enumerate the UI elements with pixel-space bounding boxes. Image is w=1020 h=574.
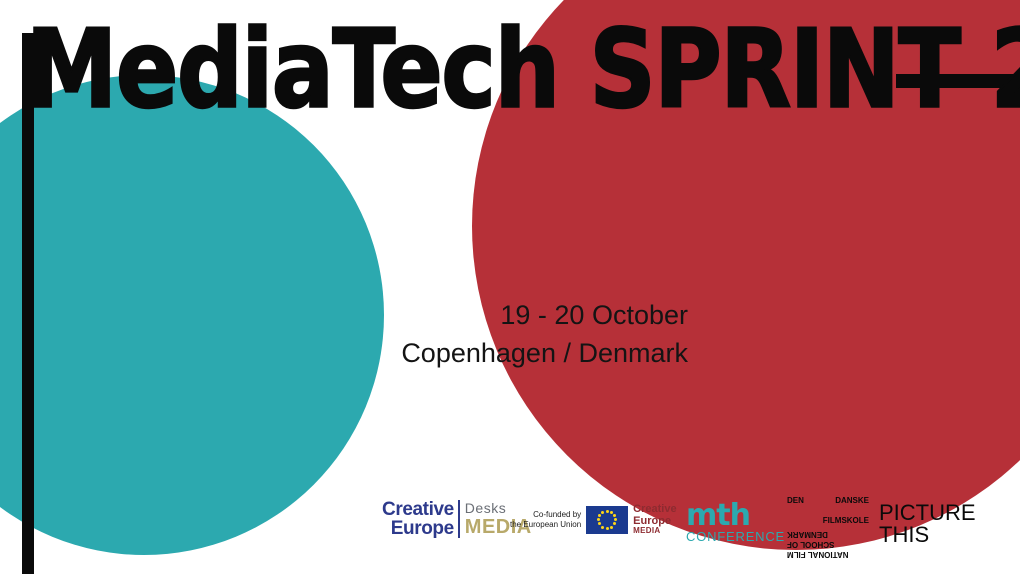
- eu-flag-star-icon: [598, 514, 601, 517]
- eu-flag-star-icon: [613, 522, 616, 525]
- eu-flag-star-icon: [606, 510, 609, 513]
- dfs-danish-text: DEN DANSKE FILMSKOLE: [787, 496, 869, 526]
- co-funded-line2: the European Union: [510, 520, 581, 530]
- sponsor-logo-strip: Creative Europe Desks MEDIA Co-funded by…: [382, 492, 982, 556]
- eu-flag-star-icon: [610, 526, 613, 529]
- creative-europe-line2: Europe: [382, 519, 454, 538]
- eu-flag-star-icon: [597, 518, 600, 521]
- dfs-top-line3: FILMSKOLE: [823, 516, 869, 525]
- creative-europe-line1: Creative: [382, 500, 454, 519]
- mth-wordmark: mth: [686, 502, 785, 530]
- mth-conference-label: CONFERENCE: [686, 530, 785, 544]
- eu-brand-line3: MEDIA: [633, 527, 676, 535]
- dfs-den: DEN: [787, 496, 804, 505]
- co-funded-line1: Co-funded by: [510, 510, 581, 520]
- eu-flag-icon: [586, 506, 628, 534]
- dfs-bottom-line3: DENMARK: [787, 529, 869, 539]
- dfs-bottom-line2: SCHOOL OF: [787, 539, 869, 549]
- eu-flag-star-icon: [610, 511, 613, 514]
- creative-europe-wordmark: Creative Europe: [382, 500, 458, 538]
- logo-divider: [458, 500, 460, 538]
- dfs-bottom-line1: NATIONAL FILM: [787, 549, 869, 559]
- co-funded-text: Co-funded by the European Union: [510, 510, 586, 530]
- dfs-danske: DANSKE: [835, 496, 869, 505]
- eu-flag-star-icon: [606, 527, 609, 530]
- co-funded-eu-logo: Co-funded by the European Union Creative…: [510, 504, 677, 535]
- eu-creative-europe-wordmark: Creative Europe MEDIA: [628, 504, 676, 535]
- eu-flag-star-icon: [598, 522, 601, 525]
- eu-flag-star-icon: [614, 518, 617, 521]
- eu-flag-star-icon: [613, 514, 616, 517]
- mth-conference-logo: mth CONFERENCE: [686, 502, 785, 544]
- page-title: MediaTech SPRINT 2025: [26, 16, 1001, 124]
- event-details: 19 - 20 October Copenhagen / Denmark: [0, 296, 688, 372]
- dfs-english-text: NATIONAL FILM SCHOOL OF DENMARK: [787, 529, 869, 559]
- eu-brand-line1: Creative: [633, 504, 676, 516]
- poster-canvas: MediaTech SPRINT 2025 19 - 20 October Co…: [0, 0, 1020, 574]
- event-location: Copenhagen / Denmark: [0, 334, 688, 372]
- picture-this-line1: PICTURE: [879, 502, 976, 524]
- eu-flag-star-icon: [601, 511, 604, 514]
- picture-this-logo: PICTURE THIS: [879, 502, 976, 546]
- event-dates: 19 - 20 October: [0, 296, 688, 334]
- picture-this-line2: THIS: [879, 524, 976, 546]
- danish-film-school-logo: DEN DANSKE FILMSKOLE NATIONAL FILM SCHOO…: [787, 496, 869, 552]
- eu-flag-star-icon: [601, 526, 604, 529]
- dfs-top-line1: DEN DANSKE: [787, 496, 869, 516]
